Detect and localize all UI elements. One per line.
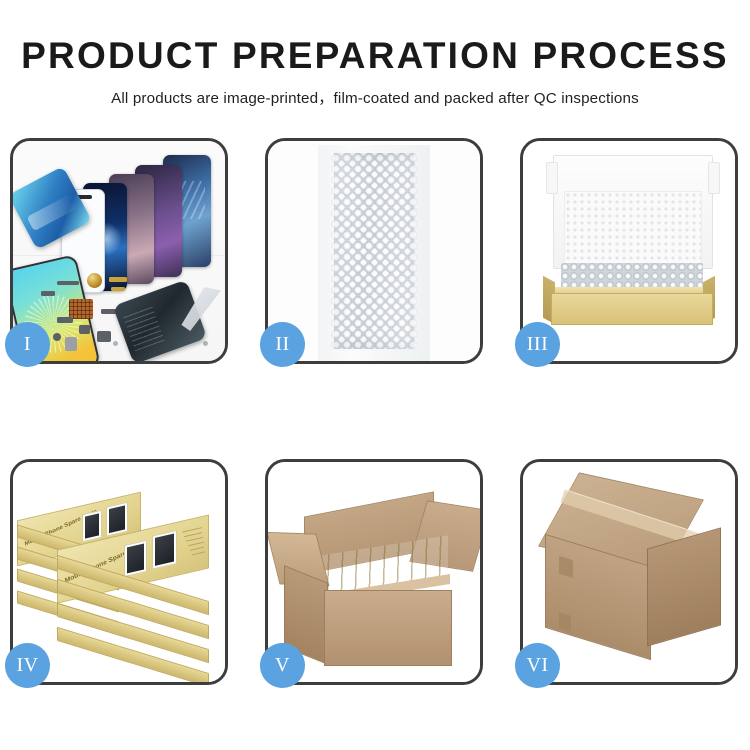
stacked-boxes-photo: Mobile Phone Spare Parts Mobile Phone Sp… (13, 462, 225, 682)
chip-grid-part (69, 299, 93, 319)
flex-cable-part (109, 277, 127, 282)
step-card-2: II (265, 138, 483, 364)
carton-side-face (647, 527, 721, 646)
steps-grid: I II III (10, 138, 740, 685)
carton-tab (559, 612, 571, 632)
vibrator-part (41, 291, 55, 296)
product-preparation-infographic: PRODUCT PREPARATION PROCESS All products… (0, 0, 750, 750)
sim-tray-part (65, 337, 77, 351)
step-badge-6: VI (515, 643, 560, 688)
carton-tab (559, 556, 573, 578)
mailer-box-photo (523, 141, 735, 361)
step-card-6: VI (520, 459, 738, 685)
box-checklist-line (188, 542, 204, 547)
step-badge-1: I (5, 322, 50, 367)
box-checklist-line (190, 547, 204, 552)
box-phone-image (124, 540, 147, 577)
box-checklist-line (192, 551, 205, 555)
speaker-coil-part (87, 273, 102, 288)
flex-cable-part (57, 281, 79, 285)
step-badge-3: III (515, 322, 560, 367)
screw-part (203, 341, 208, 346)
page-title: PRODUCT PREPARATION PROCESS (0, 37, 750, 76)
step-card-3: III (520, 138, 738, 364)
carton-filling-photo (268, 462, 480, 682)
button-part (53, 333, 61, 341)
sealed-carton-photo (523, 462, 735, 682)
carton-front-wall (324, 590, 452, 666)
battery-connector-part (97, 331, 111, 342)
foam-liner (564, 191, 702, 265)
step-card-4: Mobile Phone Spare Parts Mobile Phone Sp… (10, 459, 228, 685)
screw-part (113, 341, 118, 346)
step-card-1: I (10, 138, 228, 364)
box-phone-image (106, 502, 128, 537)
connector-part (57, 317, 73, 323)
box-stack: Mobile Phone Spare Parts Mobile Phone Sp… (17, 478, 223, 672)
wrap-seam (331, 153, 417, 349)
step-badge-4: IV (5, 643, 50, 688)
camera-module-part (79, 325, 90, 334)
box-front-wall (551, 293, 713, 325)
step-card-5: V (265, 459, 483, 685)
page-subtitle: All products are image-printed，film-coat… (0, 86, 750, 108)
step-badge-2: II (260, 322, 305, 367)
box-phone-image (82, 510, 102, 543)
phone-parts-photo (13, 141, 225, 361)
box-phone-image (152, 530, 177, 570)
step-badge-5: V (260, 643, 305, 688)
bubble-wrap-photo (268, 141, 480, 361)
header: PRODUCT PREPARATION PROCESS All products… (0, 0, 750, 108)
flex-cable-part (111, 287, 125, 291)
